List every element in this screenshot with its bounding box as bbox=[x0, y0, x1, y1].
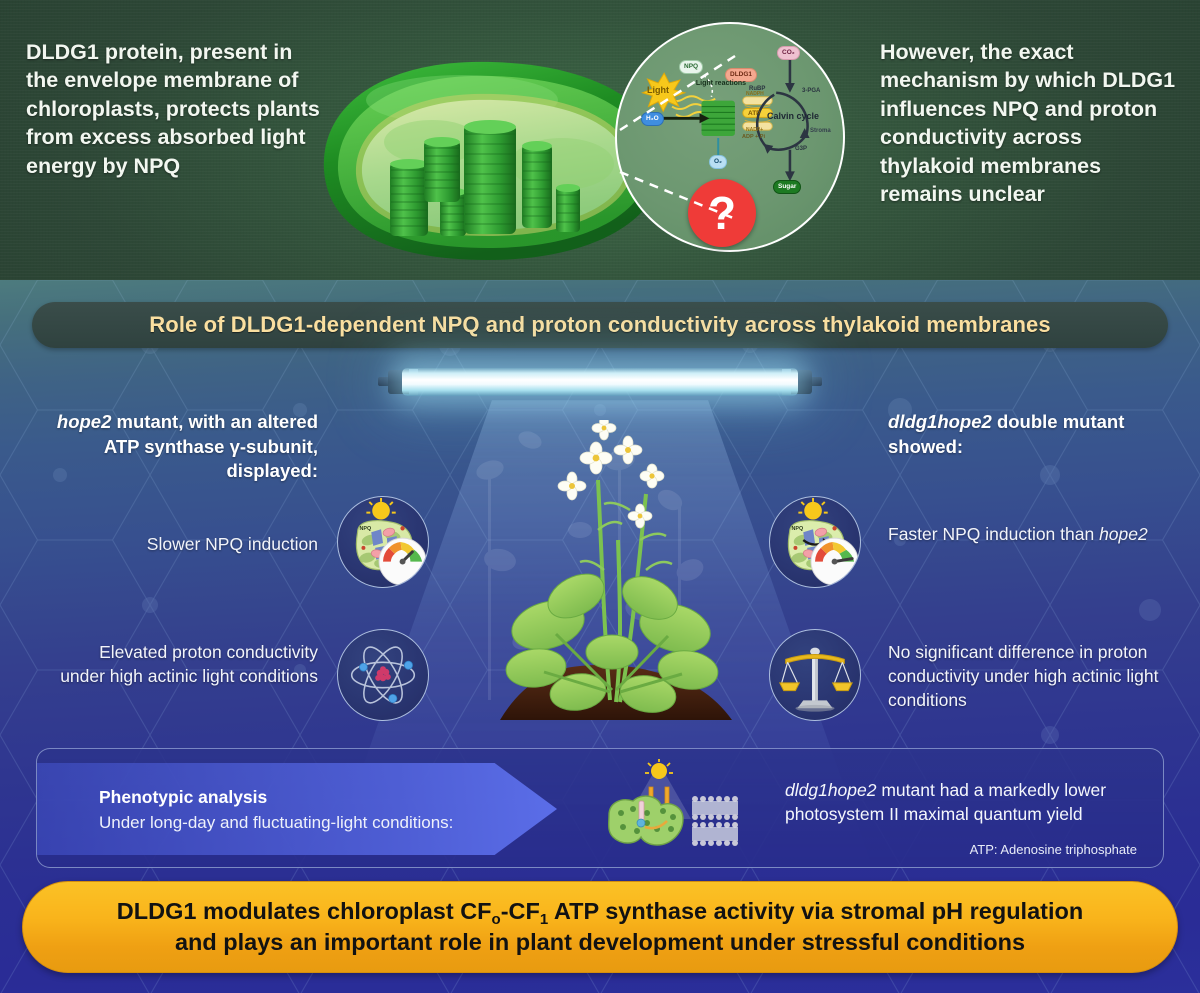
phenotypic-title: Phenotypic analysis bbox=[99, 787, 267, 808]
npq-leaf-gauge-icon-right: NPQ bbox=[769, 496, 861, 588]
top-section: NPQ DLDG1 Light Light reactions H₂O O₂ C… bbox=[0, 0, 1200, 280]
phenotypic-analysis-panel: Phenotypic analysis Under long-day and f… bbox=[36, 748, 1164, 868]
svg-text:NPQ: NPQ bbox=[792, 526, 804, 532]
magnifier-dashed-lines bbox=[560, 40, 780, 240]
section-title-text: Role of DLDG1-dependent NPQ and proton c… bbox=[149, 312, 1050, 338]
phenotypic-arrow-shape bbox=[37, 763, 557, 855]
balance-scale-icon bbox=[769, 629, 861, 721]
arabidopsis-plant-illustration bbox=[470, 420, 760, 750]
phenotypic-subtitle: Under long-day and fluctuating-light con… bbox=[99, 813, 453, 833]
phenotypic-result-text: dldg1hope2 mutant had a markedly lower p… bbox=[785, 779, 1130, 827]
fluorescent-light-tube bbox=[378, 364, 822, 400]
inset-label-co2: CO₂ bbox=[777, 46, 800, 60]
npq-leaf-gauge-icon-left: NPQ bbox=[337, 496, 429, 588]
graphical-abstract: NPQ DLDG1 Light Light reactions H₂O O₂ C… bbox=[0, 0, 1200, 993]
right-column-heading: dldg1hope2 double mutant showed: bbox=[888, 410, 1188, 459]
left-finding-2-text: Elevated proton conductivity under high … bbox=[58, 640, 318, 688]
atom-icon bbox=[337, 629, 429, 721]
section-title-banner: Role of DLDG1-dependent NPQ and proton c… bbox=[32, 302, 1168, 348]
top-right-text: However, the exact mechanism by which DL… bbox=[880, 38, 1180, 208]
top-left-text: DLDG1 protein, present in the envelope m… bbox=[26, 38, 326, 180]
abbreviation-footnote: ATP: Adenosine triphosphate bbox=[970, 842, 1137, 857]
inset-label-g3p: G3P bbox=[795, 146, 807, 153]
thylakoid-membrane-icon bbox=[607, 757, 777, 863]
conclusion-banner: DLDG1 modulates chloroplast CFo-CF1 ATP … bbox=[22, 881, 1178, 973]
inset-label-stroma: Stroma bbox=[810, 128, 831, 135]
left-column-heading: hope2 mutant, with an altered ATP syntha… bbox=[18, 410, 318, 484]
right-finding-1-text: Faster NPQ induction than hope2 bbox=[888, 522, 1178, 546]
left-finding-1-text: Slower NPQ induction bbox=[60, 532, 318, 556]
right-finding-2-text: No significant difference in proton cond… bbox=[888, 640, 1188, 712]
conclusion-text: DLDG1 modulates chloroplast CFo-CF1 ATP … bbox=[89, 896, 1111, 957]
svg-text:NPQ: NPQ bbox=[360, 526, 372, 532]
inset-label-3pga: 3-PGA bbox=[802, 88, 820, 95]
